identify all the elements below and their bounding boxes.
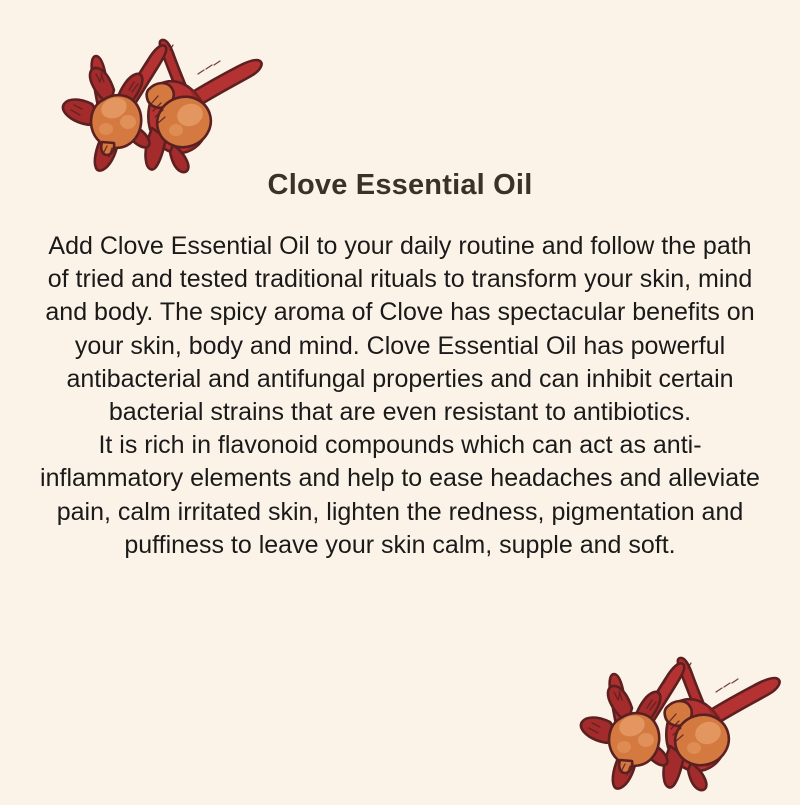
clove-illustration-bottom-right xyxy=(548,630,788,805)
clove-illustration-top-left xyxy=(30,12,270,187)
description-paragraph-2: It is rich in flavonoid compounds which … xyxy=(40,429,760,562)
clove-info-card: Clove Essential Oil Add Clove Essential … xyxy=(0,0,800,800)
clove-icon xyxy=(581,658,780,790)
clove-icon xyxy=(63,40,262,172)
description-paragraph-1: Add Clove Essential Oil to your daily ro… xyxy=(40,230,760,429)
card-content: Clove Essential Oil Add Clove Essential … xyxy=(40,168,760,562)
page-title: Clove Essential Oil xyxy=(40,168,760,202)
description-text: Add Clove Essential Oil to your daily ro… xyxy=(40,230,760,562)
